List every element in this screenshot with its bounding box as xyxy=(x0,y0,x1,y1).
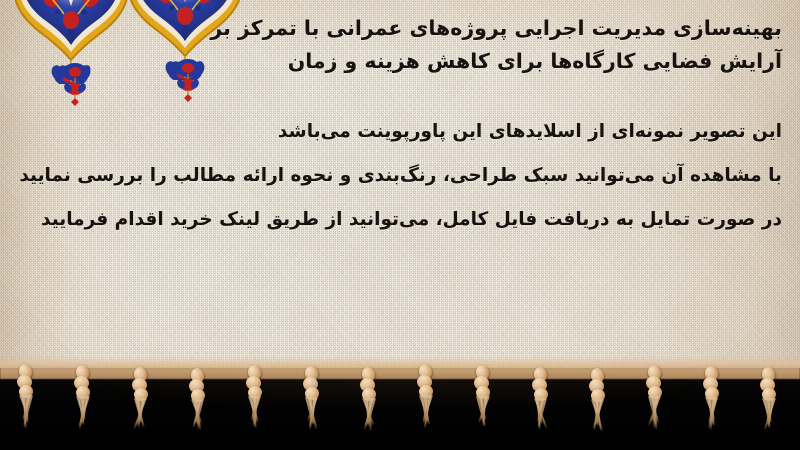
slide-body: این تصویر نمونه‌ای از اسلایدهای این پاور… xyxy=(12,112,782,240)
tassel xyxy=(700,362,730,442)
tassel xyxy=(129,363,159,443)
tassel xyxy=(243,361,273,441)
body-line-1: این تصویر نمونه‌ای از اسلایدهای این پاور… xyxy=(12,112,782,152)
tassel xyxy=(643,361,673,441)
knotted-tassel-fringe xyxy=(0,0,800,100)
tassel xyxy=(586,364,616,444)
tassel xyxy=(71,361,101,441)
tassel xyxy=(757,363,787,443)
body-line-2: با مشاهده آن می‌توانید سبک طراحی، رنگ‌بن… xyxy=(12,156,782,196)
tassel xyxy=(357,363,387,443)
tassel xyxy=(300,362,330,442)
tassel xyxy=(471,361,501,441)
carpet-edge-rope-band xyxy=(0,357,800,379)
presentation-slide: بهینه‌سازی مدیریت اجرایی پروژه‌های عمران… xyxy=(0,0,800,450)
tassel xyxy=(14,360,44,440)
black-background-field xyxy=(0,368,800,450)
tassel xyxy=(186,364,216,444)
body-line-3: در صورت تمایل به دریافت فایل کامل، می‌تو… xyxy=(12,200,782,240)
tassel xyxy=(529,363,559,443)
tassel xyxy=(414,360,444,440)
